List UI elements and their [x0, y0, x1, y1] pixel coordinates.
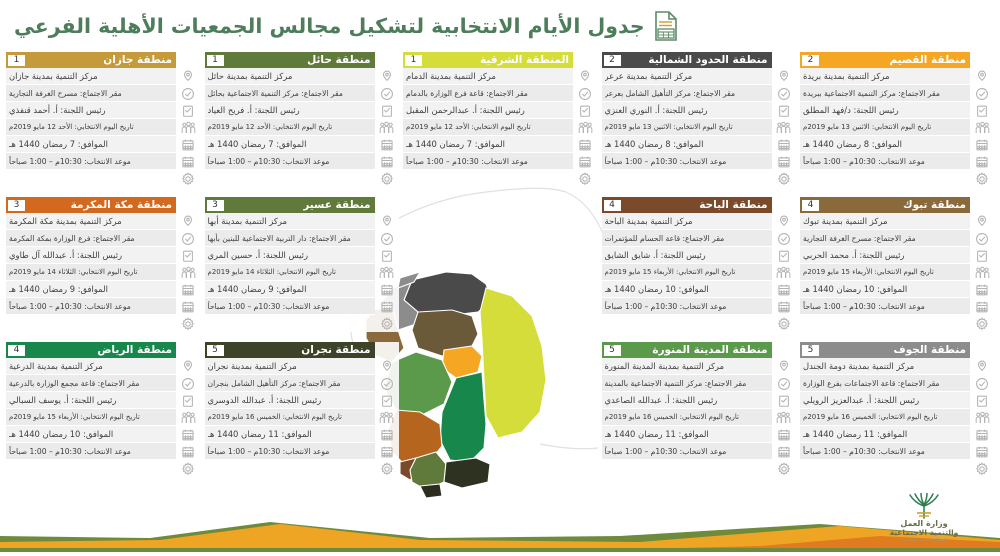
region-card-row: مقر الاجتماع: مركز التنمية الاجتماعية بح…	[205, 85, 375, 102]
people-group-icon	[970, 409, 994, 426]
region-card-row: تاريخ اليوم الانتخابي: الاثنين 13 مايو 2…	[800, 119, 970, 136]
card-icon-rail	[375, 52, 399, 187]
region-card[interactable]: المنطقة الشرقية1مركز التنمية بمدينة الدم…	[403, 52, 597, 187]
calendar-alt-icon	[970, 153, 994, 170]
people-group-icon	[176, 409, 200, 426]
calendar-icon	[176, 136, 200, 153]
clock-check-icon	[772, 375, 796, 392]
region-card-row: موعد الانتخاب: 10:30م – 1:00 صباحاً	[6, 153, 176, 170]
location-pin-icon	[772, 213, 796, 230]
region-card-row: رئيس اللجنة: أ. عبدالرحمن المقبل	[403, 102, 573, 119]
clock-check-icon	[375, 85, 399, 102]
card-icon-rail	[772, 52, 796, 187]
region-card-row: موعد الانتخاب: 10:30م – 1:00 صباحاً	[6, 298, 176, 315]
region-card-row: الموافق: 11 رمضان 1440 هـ	[800, 426, 970, 443]
people-group-icon	[375, 119, 399, 136]
region-card-row: تاريخ اليوم الانتخابي: الخميس 16 مايو 20…	[205, 409, 375, 426]
region-card[interactable]: منطقة مكة المكرمة3مركز التنمية بمدينة مك…	[6, 197, 200, 332]
chair-text: رئيس اللجنة: أ. يوسف السبالي	[9, 392, 172, 409]
gregorian-date-text: تاريخ اليوم الانتخابي: الخميس 16 مايو 20…	[803, 409, 966, 426]
region-name: منطقة الجوف	[894, 342, 967, 358]
sequence-badge: 4	[604, 200, 621, 211]
chair-text: رئيس اللجنة: أ. أحمد قنفذي	[9, 102, 172, 119]
chair-text: رئيس اللجنة: أ. عبدالرحمن المقبل	[406, 102, 569, 119]
gear-icon	[772, 170, 796, 187]
location-pin-icon	[772, 68, 796, 85]
region-card[interactable]: منطقة القصيم2مركز التنمية بمدينة بريدةمق…	[800, 52, 994, 187]
region-card[interactable]: منطقة الجوف5مركز التنمية بمدينة دومة الج…	[800, 342, 994, 477]
region-name: المنطقة الشرقية	[480, 52, 569, 68]
region-card-row: الموافق: 7 رمضان 1440 هـ	[403, 136, 573, 153]
region-card-row: رئيس اللجنة: أ. أحمد قنفذي	[6, 102, 176, 119]
region-card-header: منطقة مكة المكرمة3	[6, 197, 176, 213]
region-card-row: رئيس اللجنة: أ. شايق الشايق	[602, 247, 772, 264]
chair-text: رئيس اللجنة: أ. حسين المري	[208, 247, 371, 264]
gear-icon	[970, 460, 994, 477]
gregorian-date-text: تاريخ اليوم الانتخابي: الثلاثاء 14 مايو …	[9, 264, 172, 281]
sequence-badge: 3	[207, 200, 224, 211]
calendar-icon	[375, 426, 399, 443]
region-cards-grid: منطقة القصيم2مركز التنمية بمدينة بريدةمق…	[0, 52, 1000, 477]
region-name: منطقة نجران	[301, 342, 370, 358]
region-card-row: مقر الاجتماع: دار التربية الاجتماعية للب…	[205, 230, 375, 247]
calendar-icon	[970, 136, 994, 153]
region-name: منطقة جازان	[103, 52, 172, 68]
region-name: منطقة القصيم	[889, 52, 966, 68]
sequence-badge: 4	[802, 200, 819, 211]
region-card-row: رئيس اللجنة: د/فهد المطلق	[800, 102, 970, 119]
election-time-text: موعد الانتخاب: 10:30م – 1:00 صباحاً	[605, 443, 768, 460]
people-group-icon	[176, 119, 200, 136]
center-text: مركز التنمية بمدينة تبوك	[803, 213, 966, 230]
gear-icon	[176, 460, 200, 477]
election-time-text: موعد الانتخاب: 10:30م – 1:00 صباحاً	[208, 443, 371, 460]
card-icon-rail	[176, 197, 200, 332]
center-text: مركز التنمية بمدينة مكة المكرمة	[9, 213, 172, 230]
card-icon-rail	[772, 342, 796, 477]
center-text: مركز التنمية بمدينة عرعر	[605, 68, 768, 85]
gear-icon	[970, 315, 994, 332]
region-card-row: موعد الانتخاب: 10:30م – 1:00 صباحاً	[205, 153, 375, 170]
region-card-header: منطقة عسير3	[205, 197, 375, 213]
calendar-alt-icon	[772, 443, 796, 460]
region-card-row: مقر الاجتماع: فرع الوزارة بمكة المكرمة	[6, 230, 176, 247]
card-slot: منطقة مكة المكرمة3مركز التنمية بمدينة مك…	[6, 197, 200, 332]
region-card-row: الموافق: 8 رمضان 1440 هـ	[602, 136, 772, 153]
calendar-alt-icon	[176, 443, 200, 460]
clipboard-check-icon	[970, 102, 994, 119]
region-card-header: منطقة تبوك4	[800, 197, 970, 213]
card-icon-rail	[970, 52, 994, 187]
region-card-row: تاريخ اليوم الانتخابي: الأربعاء 15 مايو …	[602, 264, 772, 281]
calendar-alt-icon	[375, 153, 399, 170]
center-text: مركز التنمية بمدينة بريدة	[803, 68, 966, 85]
election-time-text: موعد الانتخاب: 10:30م – 1:00 صباحاً	[605, 298, 768, 315]
hijri-date-text: الموافق: 11 رمضان 1440 هـ	[208, 426, 371, 443]
ministry-name-line2: والتنمية الاجتماعية	[864, 528, 984, 537]
clipboard-check-icon	[970, 392, 994, 409]
region-card-row: موعد الانتخاب: 10:30م – 1:00 صباحاً	[205, 443, 375, 460]
venue-text: مقر الاجتماع: قاعة مجمع الوزارة بالدرعية	[9, 375, 172, 392]
region-card-row: مقر الاجتماع: قاعة مجمع الوزارة بالدرعية	[6, 375, 176, 392]
center-text: مركز التنمية بمدينة نجران	[208, 358, 371, 375]
gregorian-date-text: تاريخ اليوم الانتخابي: الخميس 16 مايو 20…	[208, 409, 371, 426]
venue-text: مقر الاجتماع: مركز التنمية الاجتماعية بب…	[803, 85, 966, 102]
region-card-row: الموافق: 9 رمضان 1440 هـ	[6, 281, 176, 298]
region-card[interactable]: منطقة المدينة المنورة5مركز التنمية بمدين…	[602, 342, 796, 477]
hijri-date-text: الموافق: 11 رمضان 1440 هـ	[605, 426, 768, 443]
gregorian-date-text: تاريخ اليوم الانتخابي: الأحد 12 مايو 201…	[406, 119, 569, 136]
region-card-row: موعد الانتخاب: 10:30م – 1:00 صباحاً	[205, 298, 375, 315]
people-group-icon	[573, 119, 597, 136]
people-group-icon	[772, 264, 796, 281]
region-card-row: مركز التنمية بمدينة جازان	[6, 68, 176, 85]
clock-check-icon	[772, 230, 796, 247]
cards-row-2: منطقة تبوك4مركز التنمية بمدينة تبوكمقر ا…	[6, 197, 994, 332]
sequence-badge: 2	[802, 55, 819, 66]
card-slot: منطقة الباحة4مركز التنمية بمدينة الباحةم…	[602, 197, 796, 332]
location-pin-icon	[970, 213, 994, 230]
clipboard-check-icon	[176, 247, 200, 264]
gregorian-date-text: تاريخ اليوم الانتخابي: الأحد 12 مايو 201…	[208, 119, 371, 136]
card-slot: منطقة جازان1مركز التنمية بمدينة جازانمقر…	[6, 52, 200, 187]
calendar-icon	[772, 426, 796, 443]
sequence-badge: 1	[8, 55, 25, 66]
card-slot: منطقة تبوك4مركز التنمية بمدينة تبوكمقر ا…	[800, 197, 994, 332]
center-text: مركز التنمية بمدينة أبها	[208, 213, 371, 230]
region-card-row: مقر الاجتماع: قاعة الاجتماعات بفرع الوزا…	[800, 375, 970, 392]
election-time-text: موعد الانتخاب: 10:30م – 1:00 صباحاً	[9, 153, 172, 170]
region-card-header: منطقة الباحة4	[602, 197, 772, 213]
region-card[interactable]: منطقة تبوك4مركز التنمية بمدينة تبوكمقر ا…	[800, 197, 994, 332]
sequence-badge: 1	[405, 55, 422, 66]
election-time-text: موعد الانتخاب: 10:30م – 1:00 صباحاً	[803, 443, 966, 460]
gear-icon	[573, 170, 597, 187]
ministry-of-labor-logo: وزارة العمل والتنمية الاجتماعية المملكة …	[864, 493, 984, 544]
gear-icon	[772, 460, 796, 477]
calendar-icon	[573, 136, 597, 153]
sequence-badge: 2	[604, 55, 621, 66]
chair-text: رئيس اللجنة: أ. عبدالعزيز الرويلي	[803, 392, 966, 409]
region-card-row: تاريخ اليوم الانتخابي: الخميس 16 مايو 20…	[800, 409, 970, 426]
sequence-badge: 5	[604, 345, 621, 356]
venue-text: مقر الاجتماع: قاعة الاجتماعات بفرع الوزا…	[803, 375, 966, 392]
card-slot: منطقة عسير3مركز التنمية بمدينة أبهامقر ا…	[205, 197, 399, 332]
calendar-alt-icon	[970, 443, 994, 460]
region-card-header: منطقة الرياض4	[6, 342, 176, 358]
calendar-alt-icon	[772, 153, 796, 170]
region-name: منطقة عسير	[303, 197, 370, 213]
region-card-row: الموافق: 7 رمضان 1440 هـ	[6, 136, 176, 153]
region-card-row: الموافق: 8 رمضان 1440 هـ	[800, 136, 970, 153]
card-slot: منطقة الحدود الشمالية2مركز التنمية بمدين…	[602, 52, 796, 187]
calendar-alt-icon	[176, 153, 200, 170]
clipboard-check-icon	[176, 102, 200, 119]
election-time-text: موعد الانتخاب: 10:30م – 1:00 صباحاً	[208, 153, 371, 170]
region-card[interactable]: منطقة حائل1مركز التنمية بمدينة حائلمقر ا…	[205, 52, 399, 187]
region-card-header: منطقة جازان1	[6, 52, 176, 68]
clipboard-check-icon	[970, 247, 994, 264]
region-name: منطقة مكة المكرمة	[71, 197, 172, 213]
venue-text: مقر الاجتماع: مركز التنمية الاجتماعية بح…	[208, 85, 371, 102]
region-card-row: مقر الاجتماع: مركز التنمية الاجتماعية بب…	[800, 85, 970, 102]
hijri-date-text: الموافق: 11 رمضان 1440 هـ	[803, 426, 966, 443]
region-card-header: منطقة القصيم2	[800, 52, 970, 68]
region-card[interactable]: منطقة جازان1مركز التنمية بمدينة جازانمقر…	[6, 52, 200, 187]
region-card-header: منطقة المدينة المنورة5	[602, 342, 772, 358]
region-name: منطقة حائل	[307, 52, 370, 68]
region-card[interactable]: منطقة الباحة4مركز التنمية بمدينة الباحةم…	[602, 197, 796, 332]
region-card-row: رئيس اللجنة: أ. عبدالله آل طاوي	[6, 247, 176, 264]
location-pin-icon	[970, 68, 994, 85]
election-time-text: موعد الانتخاب: 10:30م – 1:00 صباحاً	[406, 153, 569, 170]
cards-row-1: منطقة القصيم2مركز التنمية بمدينة بريدةمق…	[6, 52, 994, 187]
hijri-date-text: الموافق: 10 رمضان 1440 هـ	[803, 281, 966, 298]
region-card[interactable]: منطقة الحدود الشمالية2مركز التنمية بمدين…	[602, 52, 796, 187]
region-card-row: تاريخ اليوم الانتخابي: الاثنين 13 مايو 2…	[602, 119, 772, 136]
region-card-row: الموافق: 7 رمضان 1440 هـ	[205, 136, 375, 153]
card-icon-rail	[375, 197, 399, 332]
calendar-icon	[772, 281, 796, 298]
calendar-icon	[176, 426, 200, 443]
venue-text: مقر الاجتماع: مركز التنمية الاجتماعية با…	[605, 375, 768, 392]
calendar-alt-icon	[970, 298, 994, 315]
region-name: منطقة تبوك	[903, 197, 966, 213]
venue-text: مقر الاجتماع: قاعة الحسام للمؤتمرات	[605, 230, 768, 247]
hijri-date-text: الموافق: 9 رمضان 1440 هـ	[9, 281, 172, 298]
card-icon-rail	[970, 197, 994, 332]
venue-text: مقر الاجتماع: قاعة فرع الوزارة بالدمام	[406, 85, 569, 102]
calendar-icon	[772, 136, 796, 153]
card-slot: منطقة القصيم2مركز التنمية بمدينة بريدةمق…	[800, 52, 994, 187]
clipboard-check-icon	[772, 102, 796, 119]
sequence-badge: 5	[802, 345, 819, 356]
region-card-row: تاريخ اليوم الانتخابي: الأحد 12 مايو 201…	[403, 119, 573, 136]
card-slot: منطقة المدينة المنورة5مركز التنمية بمدين…	[602, 342, 796, 477]
calendar-icon	[970, 426, 994, 443]
region-card-row: مقر الاجتماع: مركز التأهيل الشامل بعرعر	[602, 85, 772, 102]
location-pin-icon	[375, 358, 399, 375]
region-card-row: تاريخ اليوم الانتخابي: الثلاثاء 14 مايو …	[205, 264, 375, 281]
people-group-icon	[772, 409, 796, 426]
region-card-row: الموافق: 10 رمضان 1440 هـ	[602, 281, 772, 298]
region-card-row: الموافق: 9 رمضان 1440 هـ	[205, 281, 375, 298]
region-card-row: موعد الانتخاب: 10:30م – 1:00 صباحاً	[602, 298, 772, 315]
card-icon-rail	[176, 52, 200, 187]
region-name: منطقة المدينة المنورة	[652, 342, 767, 358]
region-card-row: تاريخ اليوم الانتخابي: الأربعاء 15 مايو …	[6, 409, 176, 426]
card-icon-rail	[176, 342, 200, 477]
gear-icon	[176, 170, 200, 187]
region-card-row: مقر الاجتماع: مركز التنمية الاجتماعية با…	[602, 375, 772, 392]
clock-check-icon	[970, 230, 994, 247]
election-time-text: موعد الانتخاب: 10:30م – 1:00 صباحاً	[803, 298, 966, 315]
election-time-text: موعد الانتخاب: 10:30م – 1:00 صباحاً	[803, 153, 966, 170]
region-card-row: تاريخ اليوم الانتخابي: الخميس 16 مايو 20…	[602, 409, 772, 426]
region-card-row: موعد الانتخاب: 10:30م – 1:00 صباحاً	[800, 298, 970, 315]
sequence-badge: 5	[207, 345, 224, 356]
region-card-row: رئيس اللجنة: أ. عبدالعزيز الرويلي	[800, 392, 970, 409]
region-card-row: موعد الانتخاب: 10:30م – 1:00 صباحاً	[6, 443, 176, 460]
card-icon-rail	[573, 52, 597, 187]
card-slot: منطقة حائل1مركز التنمية بمدينة حائلمقر ا…	[205, 52, 399, 187]
region-card-row: مركز التنمية بمدينة تبوك	[800, 213, 970, 230]
hijri-date-text: الموافق: 8 رمضان 1440 هـ	[605, 136, 768, 153]
calendar-icon	[176, 281, 200, 298]
region-card-row: مقر الاجتماع: مسرح الغرفة التجارية	[800, 230, 970, 247]
clipboard-check-icon	[375, 247, 399, 264]
sequence-badge: 1	[207, 55, 224, 66]
region-card-row: الموافق: 11 رمضان 1440 هـ	[602, 426, 772, 443]
region-name: منطقة الحدود الشمالية	[648, 52, 767, 68]
gregorian-date-text: تاريخ اليوم الانتخابي: الأحد 12 مايو 201…	[9, 119, 172, 136]
hijri-date-text: الموافق: 8 رمضان 1440 هـ	[803, 136, 966, 153]
venue-text: مقر الاجتماع: مركز التأهيل الشامل بعرعر	[605, 85, 768, 102]
venue-text: مقر الاجتماع: فرع الوزارة بمكة المكرمة	[9, 230, 172, 247]
venue-text: مقر الاجتماع: مسرح الغرفة التجارية	[803, 230, 966, 247]
gear-icon	[176, 315, 200, 332]
card-icon-rail	[772, 197, 796, 332]
clock-check-icon	[772, 85, 796, 102]
gear-icon	[375, 460, 399, 477]
sequence-badge: 4	[8, 345, 25, 356]
region-card-row: رئيس اللجنة: أ. محمد الحربي	[800, 247, 970, 264]
gregorian-date-text: تاريخ اليوم الانتخابي: الاثنين 13 مايو 2…	[803, 119, 966, 136]
location-pin-icon	[375, 213, 399, 230]
people-group-icon	[772, 119, 796, 136]
region-card-row: رئيس اللجنة: أ. فريح العياد	[205, 102, 375, 119]
region-name: منطقة الرياض	[97, 342, 172, 358]
region-card-row: الموافق: 10 رمضان 1440 هـ	[6, 426, 176, 443]
venue-text: مقر الاجتماع: مركز التأهيل الشامل بنجران	[208, 375, 371, 392]
hijri-date-text: الموافق: 10 رمضان 1440 هـ	[9, 426, 172, 443]
region-card[interactable]: منطقة نجران5مركز التنمية بمدينة نجرانمقر…	[205, 342, 399, 477]
chair-text: رئيس اللجنة: أ. النوري العنزي	[605, 102, 768, 119]
region-card-row: موعد الانتخاب: 10:30م – 1:00 صباحاً	[800, 153, 970, 170]
location-pin-icon	[375, 68, 399, 85]
hijri-date-text: الموافق: 7 رمضان 1440 هـ	[9, 136, 172, 153]
location-pin-icon	[970, 358, 994, 375]
region-card-row: تاريخ اليوم الانتخابي: الثلاثاء 14 مايو …	[6, 264, 176, 281]
clipboard-check-icon	[772, 392, 796, 409]
clock-check-icon	[375, 230, 399, 247]
gregorian-date-text: تاريخ اليوم الانتخابي: الأربعاء 15 مايو …	[803, 264, 966, 281]
calendar-icon	[375, 281, 399, 298]
center-text: مركز التنمية بمدينة جازان	[9, 68, 172, 85]
page-header: جدول الأيام الانتخابية لتشكيل مجالس الجم…	[0, 0, 1000, 52]
region-card-row: مركز التنمية بمدينة أبها	[205, 213, 375, 230]
calendar-icon	[970, 281, 994, 298]
region-card-row: رئيس اللجنة: أ. النوري العنزي	[602, 102, 772, 119]
region-card-row: مركز التنمية بمدينة نجران	[205, 358, 375, 375]
election-time-text: موعد الانتخاب: 10:30م – 1:00 صباحاً	[9, 298, 172, 315]
gear-icon	[970, 170, 994, 187]
region-card-row: مقر الاجتماع: مسرح الغرفة التجارية	[6, 85, 176, 102]
chair-text: رئيس اللجنة: د/فهد المطلق	[803, 102, 966, 119]
gregorian-date-text: تاريخ اليوم الانتخابي: الثلاثاء 14 مايو …	[208, 264, 371, 281]
region-card-header: منطقة الحدود الشمالية2	[602, 52, 772, 68]
region-card-row: مقر الاجتماع: قاعة الحسام للمؤتمرات	[602, 230, 772, 247]
region-card-row: تاريخ اليوم الانتخابي: الأحد 12 مايو 201…	[6, 119, 176, 136]
region-card-row: موعد الانتخاب: 10:30م – 1:00 صباحاً	[602, 153, 772, 170]
location-pin-icon	[772, 358, 796, 375]
gregorian-date-text: تاريخ اليوم الانتخابي: الأربعاء 15 مايو …	[605, 264, 768, 281]
calendar-alt-icon	[176, 298, 200, 315]
chair-text: رئيس اللجنة: أ. شايق الشايق	[605, 247, 768, 264]
center-text: مركز التنمية بمدينة دومة الجندل	[803, 358, 966, 375]
calendar-alt-icon	[375, 443, 399, 460]
region-card-row: مركز التنمية بمدينة دومة الجندل	[800, 358, 970, 375]
center-text: مركز التنمية بمدينة المدينة المنورة	[605, 358, 768, 375]
location-pin-icon	[176, 68, 200, 85]
region-card-row: رئيس اللجنة: أ. عبدالله الدوسري	[205, 392, 375, 409]
center-text: مركز التنمية بمدينة الدمام	[406, 68, 569, 85]
clock-check-icon	[573, 85, 597, 102]
location-pin-icon	[573, 68, 597, 85]
center-text: مركز التنمية بمدينة الباحة	[605, 213, 768, 230]
clock-check-icon	[970, 375, 994, 392]
center-text: مركز التنمية بمدينة الدرعية	[9, 358, 172, 375]
region-card-row: رئيس اللجنة: أ. يوسف السبالي	[6, 392, 176, 409]
region-card-row: مقر الاجتماع: مركز التأهيل الشامل بنجران	[205, 375, 375, 392]
region-card-row: الموافق: 11 رمضان 1440 هـ	[205, 426, 375, 443]
gear-icon	[772, 315, 796, 332]
gregorian-date-text: تاريخ اليوم الانتخابي: الخميس 16 مايو 20…	[605, 409, 768, 426]
card-icon-rail	[970, 342, 994, 477]
region-card-row: مركز التنمية بمدينة مكة المكرمة	[6, 213, 176, 230]
region-card[interactable]: منطقة الرياض4مركز التنمية بمدينة الدرعية…	[6, 342, 200, 477]
election-time-text: موعد الانتخاب: 10:30م – 1:00 صباحاً	[9, 443, 172, 460]
hijri-date-text: الموافق: 7 رمضان 1440 هـ	[208, 136, 371, 153]
clipboard-check-icon	[375, 392, 399, 409]
gear-icon	[375, 170, 399, 187]
region-card-row: مركز التنمية بمدينة الدرعية	[6, 358, 176, 375]
region-card-row: مركز التنمية بمدينة عرعر	[602, 68, 772, 85]
people-group-icon	[375, 264, 399, 281]
clock-check-icon	[176, 375, 200, 392]
clock-check-icon	[176, 230, 200, 247]
region-card-row: موعد الانتخاب: 10:30م – 1:00 صباحاً	[800, 443, 970, 460]
card-icon-rail	[375, 342, 399, 477]
calendar-alt-icon	[573, 153, 597, 170]
region-card-header: المنطقة الشرقية1	[403, 52, 573, 68]
card-slot: المنطقة الشرقية1مركز التنمية بمدينة الدم…	[403, 52, 597, 187]
clipboard-check-icon	[573, 102, 597, 119]
sequence-badge: 3	[8, 200, 25, 211]
region-card-row: تاريخ اليوم الانتخابي: الأربعاء 15 مايو …	[800, 264, 970, 281]
card-slot: منطقة الجوف5مركز التنمية بمدينة دومة الج…	[800, 342, 994, 477]
region-card[interactable]: منطقة عسير3مركز التنمية بمدينة أبهامقر ا…	[205, 197, 399, 332]
hijri-date-text: الموافق: 10 رمضان 1440 هـ	[605, 281, 768, 298]
region-card-row: رئيس اللجنة: أ. حسين المري	[205, 247, 375, 264]
page-footer: وزارة العمل والتنمية الاجتماعية المملكة …	[0, 480, 1000, 552]
region-card-header: منطقة الجوف5	[800, 342, 970, 358]
location-pin-icon	[176, 358, 200, 375]
calendar-icon	[375, 136, 399, 153]
region-card-row: مركز التنمية بمدينة الدمام	[403, 68, 573, 85]
chair-text: رئيس اللجنة: أ. محمد الحربي	[803, 247, 966, 264]
calendar-alt-icon	[772, 298, 796, 315]
clipboard-check-icon	[375, 102, 399, 119]
cards-row-3: منطقة الجوف5مركز التنمية بمدينة دومة الج…	[6, 342, 994, 477]
region-card-row: تاريخ اليوم الانتخابي: الأحد 12 مايو 201…	[205, 119, 375, 136]
hijri-date-text: الموافق: 9 رمضان 1440 هـ	[208, 281, 371, 298]
card-slot: منطقة الرياض4مركز التنمية بمدينة الدرعية…	[6, 342, 200, 477]
clipboard-check-icon	[176, 392, 200, 409]
venue-text: مقر الاجتماع: دار التربية الاجتماعية للب…	[208, 230, 371, 247]
election-time-text: موعد الانتخاب: 10:30م – 1:00 صباحاً	[208, 298, 371, 315]
region-card-row: مركز التنمية بمدينة الباحة	[602, 213, 772, 230]
